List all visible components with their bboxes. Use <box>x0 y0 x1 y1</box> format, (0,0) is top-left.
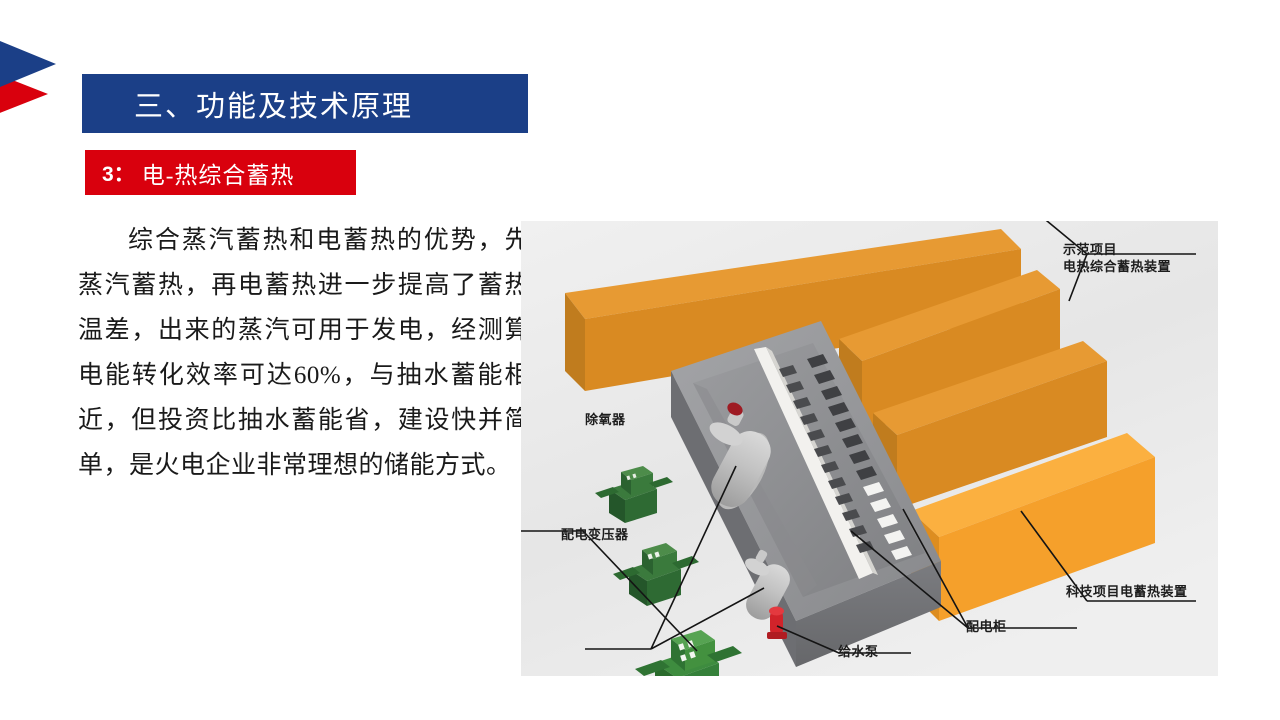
slide-root: 三、功能及技术原理 3： 电-热综合蓄热 综合蒸汽蓄热和电蓄热的优势，先蒸汽蓄热… <box>0 0 1280 720</box>
label-distribution-cabinet: 配电柜 <box>966 618 1007 635</box>
subsection-number: 3： <box>85 158 135 188</box>
label-demo-project-line2: 电热综合蓄热装置 <box>1063 258 1171 275</box>
section-title-text: 三、功能及技术原理 <box>82 83 413 125</box>
label-demo-project: 示范项目 电热综合蓄热装置 <box>1063 241 1171 275</box>
body-paragraph: 综合蒸汽蓄热和电蓄热的优势，先蒸汽蓄热，再电蓄热进一步提高了蓄热温差，出来的蒸汽… <box>78 218 530 488</box>
label-demo-project-line1: 示范项目 <box>1063 241 1171 258</box>
subsection-title-bar: 3： 电-热综合蓄热 <box>85 150 356 195</box>
label-transformer: 配电变压器 <box>561 526 629 543</box>
blue-arrow-icon <box>0 32 56 96</box>
section-title-bar: 三、功能及技术原理 <box>82 74 528 133</box>
figure-illustration <box>521 221 1218 676</box>
label-tech-project: 科技项目电蓄热装置 <box>1066 583 1188 600</box>
label-deaerator: 除氧器 <box>585 411 626 428</box>
corner-arrow-decoration <box>0 30 70 120</box>
subsection-title-text: 电-热综合蓄热 <box>135 156 295 190</box>
label-feedwater-pump: 给水泵 <box>838 643 879 660</box>
figure-panel <box>521 221 1218 676</box>
